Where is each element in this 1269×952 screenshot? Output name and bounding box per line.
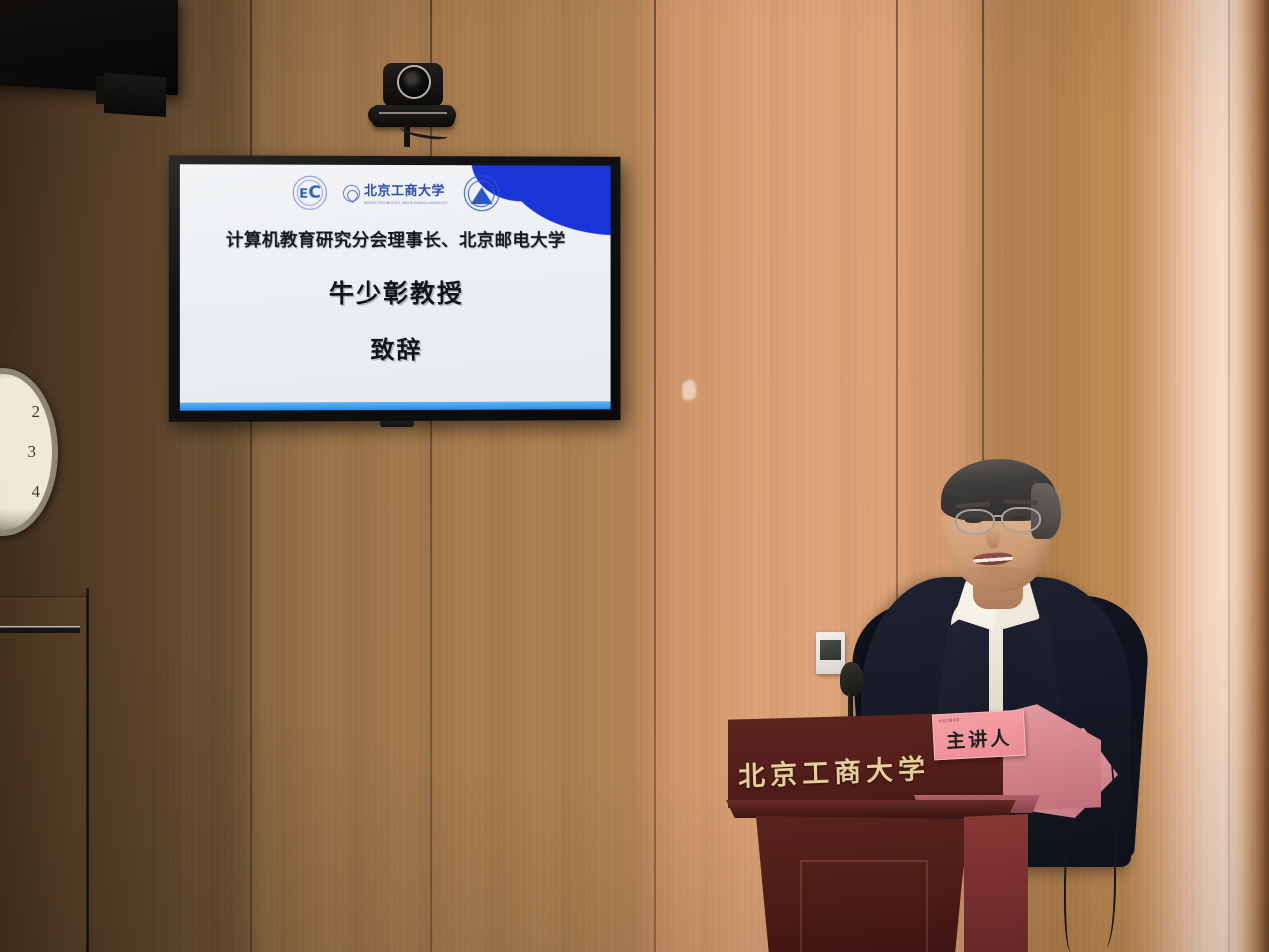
power-cable-lower: [1064, 820, 1092, 952]
nose: [986, 527, 1000, 549]
btbu-chinese-name: 北京工商大学: [364, 183, 445, 198]
name-card-role-text: 主讲人: [934, 723, 1025, 755]
slide-line-3: 致辞: [180, 330, 611, 366]
control-panel-display: [820, 640, 841, 660]
lectern: 北京工商大学 北京工商大学 主讲人: [728, 700, 1148, 952]
loudspeaker-bracket-arm: [104, 73, 166, 117]
clock-numeral: 4: [32, 482, 41, 502]
cabinet-edge-gap: [86, 588, 89, 952]
eyeglasses-lens-right: [1001, 507, 1041, 533]
gooseneck-microphone[interactable]: [840, 662, 863, 696]
eyeglasses-bridge: [994, 515, 1003, 517]
wall-cabinet-door[interactable]: [0, 596, 88, 952]
computer-education-society-seal-icon: ᴇC: [293, 176, 327, 210]
wall-panel-seam: [654, 0, 656, 952]
slide-line-1: 计算机教育研究分会理事长、北京邮电大学: [180, 227, 611, 253]
slide-canvas: ᴇC 北京工商大学 BEIJING TECHNOLOGY AND BUSINES…: [180, 164, 611, 410]
btbu-english-name: BEIJING TECHNOLOGY AND BUSINESS UNIVERSI…: [364, 200, 448, 204]
wall-panel-seam: [250, 0, 252, 952]
slide-bottom-bar: [180, 401, 611, 410]
lectern-base-side: [964, 814, 1028, 952]
btbu-mark-icon: [343, 184, 360, 201]
clock-numeral: 2: [32, 402, 41, 422]
slide-text-block: 计算机教育研究分会理事长、北京邮电大学 牛少彰教授 致辞: [180, 227, 611, 366]
slide-logo-row: ᴇC 北京工商大学 BEIJING TECHNOLOGY AND BUSINES…: [180, 174, 611, 211]
slide-line-2-speaker-name: 牛少彰教授: [180, 274, 611, 310]
bupt-seal-icon: [464, 175, 500, 211]
cabinet-handle-slot[interactable]: [0, 626, 80, 633]
presentation-display[interactable]: ᴇC 北京工商大学 BEIJING TECHNOLOGY AND BUSINES…: [169, 155, 621, 422]
clock-numeral: 3: [28, 442, 37, 462]
loudspeaker-grille: [0, 0, 146, 83]
wall-panel-seam: [430, 0, 432, 952]
seal-glyph: ᴇC: [299, 184, 321, 201]
microphone-stem: [848, 692, 853, 718]
speaker-name-card: 北京工商大学 主讲人: [932, 710, 1026, 761]
lectern-inset-moulding: [800, 860, 928, 952]
wall-panel-seam: [1228, 0, 1230, 952]
btbu-wordmark-logo: 北京工商大学 BEIJING TECHNOLOGY AND BUSINESS U…: [343, 181, 448, 204]
dark-wall-panel-secondary: [92, 0, 152, 952]
chin-shadow: [959, 567, 1037, 589]
camera-lens-icon: [397, 65, 431, 99]
wall-panel-seam: [1158, 0, 1159, 952]
name-card-org-text: 北京工商大学: [938, 717, 960, 723]
wall-smudge-mark: [682, 380, 696, 400]
photo-scene: 2 3 4 ᴇC 北京工商大学 BEIJING TECHNOLOGY: [0, 0, 1269, 952]
bupt-triangle-mark: [471, 187, 493, 204]
wall-control-panel[interactable]: [816, 632, 845, 674]
lectern-ledge: [726, 800, 1016, 818]
